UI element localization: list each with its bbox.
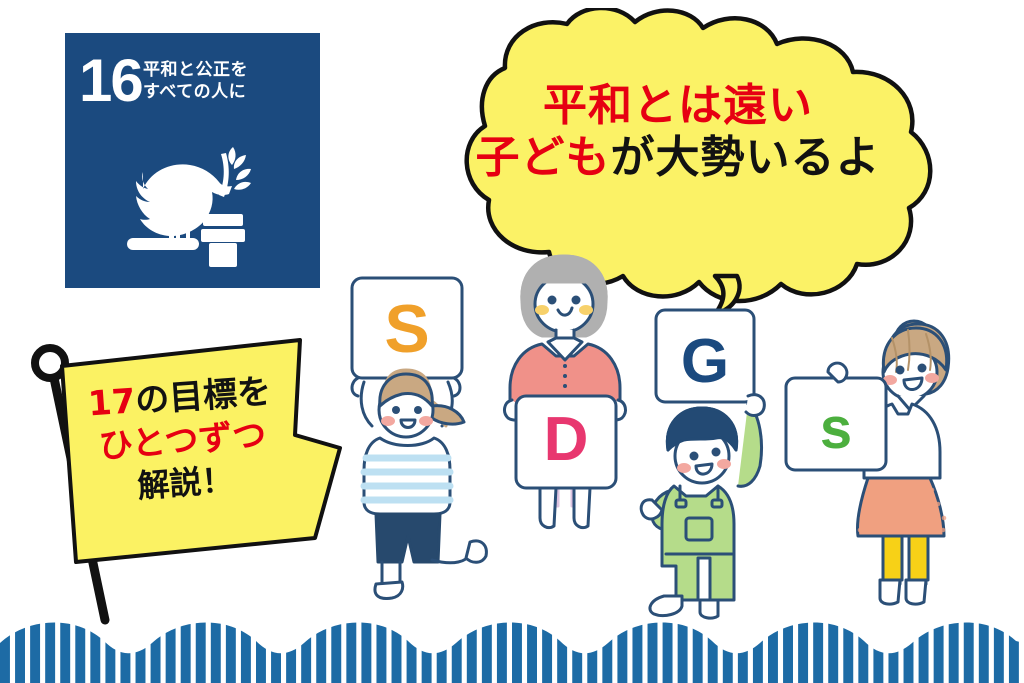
- sdg-goal-title-line1: 平和と公正を: [143, 59, 248, 81]
- speech-bubble-text: 平和とは遠い 子どもが大勢いるよ: [453, 80, 903, 184]
- illustration-canvas: 16 平和と公正を すべての人に: [0, 0, 1024, 683]
- sign-letter-s-orange: S: [384, 291, 429, 367]
- sdg-goal-title-line2: すべての人に: [143, 81, 248, 103]
- character-grandmother[interactable]: D: [486, 248, 646, 538]
- character-woman-bun[interactable]: s: [780, 310, 1000, 610]
- flag-number-17: 17: [87, 381, 137, 424]
- sign-letter-d-pink: D: [544, 405, 589, 474]
- flag-text-goals: の目標を: [134, 372, 272, 421]
- character-girl-jumping[interactable]: S: [336, 270, 506, 600]
- speech-bubble-line-2: 子どもが大勢いるよ: [453, 132, 903, 184]
- speech-bubble-line-2-black: が大勢いるよ: [611, 132, 881, 183]
- flag-text: 17の目標を ひとつずつ 解説！: [66, 370, 299, 509]
- sdg-goal-16-badge[interactable]: 16 平和と公正を すべての人に: [65, 33, 320, 288]
- flag-pole-ring-finial: [35, 348, 65, 378]
- dove-and-gavel-icon: [113, 141, 273, 271]
- sign-letter-s-green: s: [820, 396, 852, 461]
- bottom-striped-wave: [0, 613, 1024, 683]
- sign-letter-g-navy: G: [681, 327, 729, 396]
- sdg-goal-title: 平和と公正を すべての人に: [143, 59, 248, 104]
- speech-bubble-line-2-red: 子ども: [476, 132, 611, 183]
- speech-bubble-line-1: 平和とは遠い: [453, 80, 903, 132]
- flag-banner[interactable]: 17の目標を ひとつずつ 解説！: [10, 330, 355, 630]
- sdg-goal-number: 16: [79, 51, 142, 111]
